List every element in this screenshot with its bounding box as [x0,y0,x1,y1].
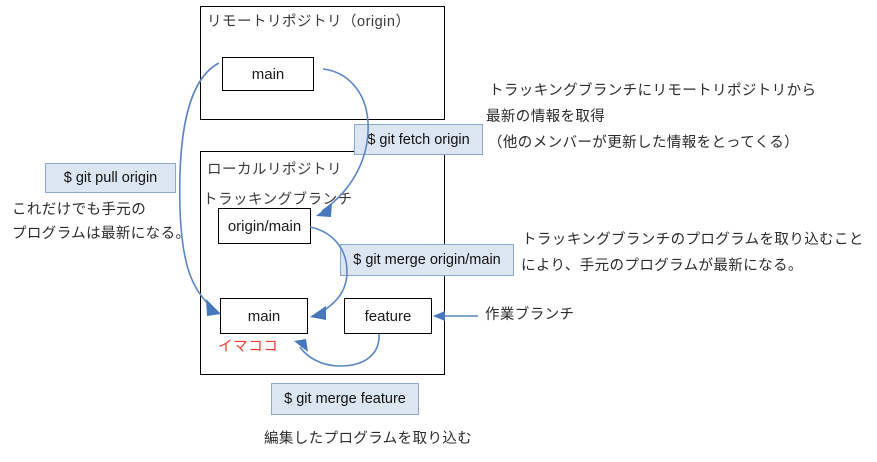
here-marker-label: イマココ [218,335,278,356]
local-branch-main: main [220,298,308,334]
local-repository-title: ローカルリポジトリ [207,158,342,179]
diagram-canvas: リモートリポジトリ（origin） main ローカルリポジトリ トラッキングブ… [0,0,877,462]
tracking-branch-label: トラッキングブランチ [203,188,353,209]
command-box-git-merge-origin-main[interactable]: $ git merge origin/main [340,244,514,276]
fetch-note-line-1: トラッキングブランチにリモートリポジトリから [489,84,816,99]
local-branch-origin-main: origin/main [218,208,311,244]
pull-note-line-1: これだけでも手元の [12,203,146,218]
command-box-git-merge-feature[interactable]: $ git merge feature [271,383,419,415]
command-box-git-pull-origin[interactable]: $ git pull origin [45,163,176,193]
merge-note-line-1: トラッキングブランチのプログラムを取り込むこと [522,233,864,248]
fetch-note-line-3: （他のメンバーが更新した情報をとってくる） [488,136,799,151]
merge-note-line-2: により、手元のプログラムが最新になる。 [521,259,803,274]
local-branch-feature: feature [344,298,432,334]
fetch-note-line-2: 最新の情報を取得 [486,110,605,125]
remote-branch-main: main [222,57,314,91]
remote-repository-title: リモートリポジトリ（origin） [207,10,410,31]
command-box-git-fetch-origin[interactable]: $ git fetch origin [354,124,483,155]
merge-feature-annotation: 編集したプログラムを取り込む [264,432,472,447]
pull-note-line-2: プログラムは最新になる。 [12,227,190,242]
work-branch-annotation: 作業ブランチ [485,308,574,323]
